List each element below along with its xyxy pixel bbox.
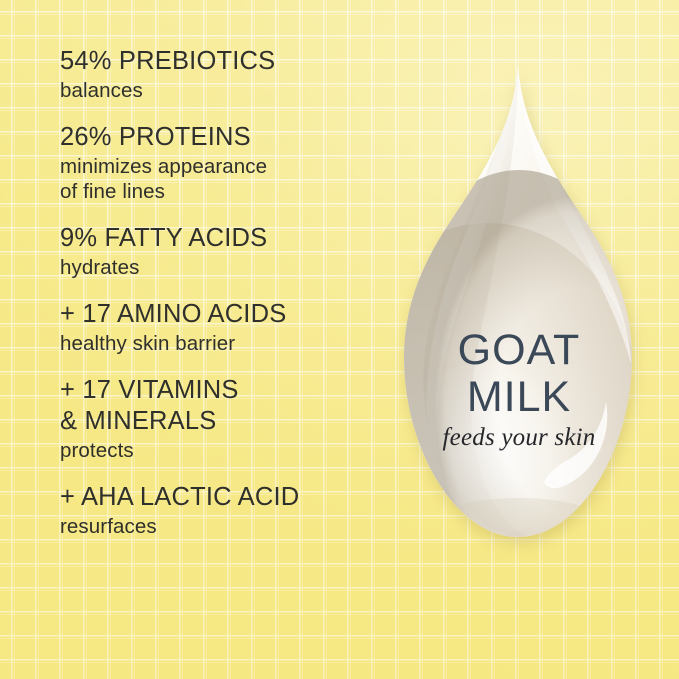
list-item: + AHA LACTIC ACID resurfaces bbox=[60, 482, 390, 539]
list-item: + 17 VITAMINS & MINERALS protects bbox=[60, 375, 390, 463]
ingredient-description: protects bbox=[60, 438, 390, 463]
ingredient-title: + AHA LACTIC ACID bbox=[60, 482, 390, 513]
ingredient-description: minimizes appearance of fine lines bbox=[60, 154, 390, 204]
droplet-graphic: GOAT MILK feeds your skin bbox=[388, 58, 650, 550]
ingredient-title: + 17 AMINO ACIDS bbox=[60, 299, 390, 330]
list-item: 54% PREBIOTICS balances bbox=[60, 46, 390, 103]
ingredient-title: + 17 VITAMINS & MINERALS bbox=[60, 375, 390, 437]
list-item: + 17 AMINO ACIDS healthy skin barrier bbox=[60, 299, 390, 356]
infographic-canvas: 54% PREBIOTICS balances 26% PROTEINS min… bbox=[0, 0, 679, 679]
ingredient-description: hydrates bbox=[60, 255, 390, 280]
list-item: 26% PROTEINS minimizes appearance of fin… bbox=[60, 122, 390, 204]
ingredient-list: 54% PREBIOTICS balances 26% PROTEINS min… bbox=[60, 46, 390, 539]
ingredient-title: 54% PREBIOTICS bbox=[60, 46, 390, 77]
list-item: 9% FATTY ACIDS hydrates bbox=[60, 223, 390, 280]
ingredient-title: 9% FATTY ACIDS bbox=[60, 223, 390, 254]
ingredient-description: balances bbox=[60, 78, 390, 103]
milk-droplet-icon bbox=[388, 58, 650, 550]
ingredient-title: 26% PROTEINS bbox=[60, 122, 390, 153]
ingredient-description: healthy skin barrier bbox=[60, 331, 390, 356]
ingredient-description: resurfaces bbox=[60, 514, 390, 539]
